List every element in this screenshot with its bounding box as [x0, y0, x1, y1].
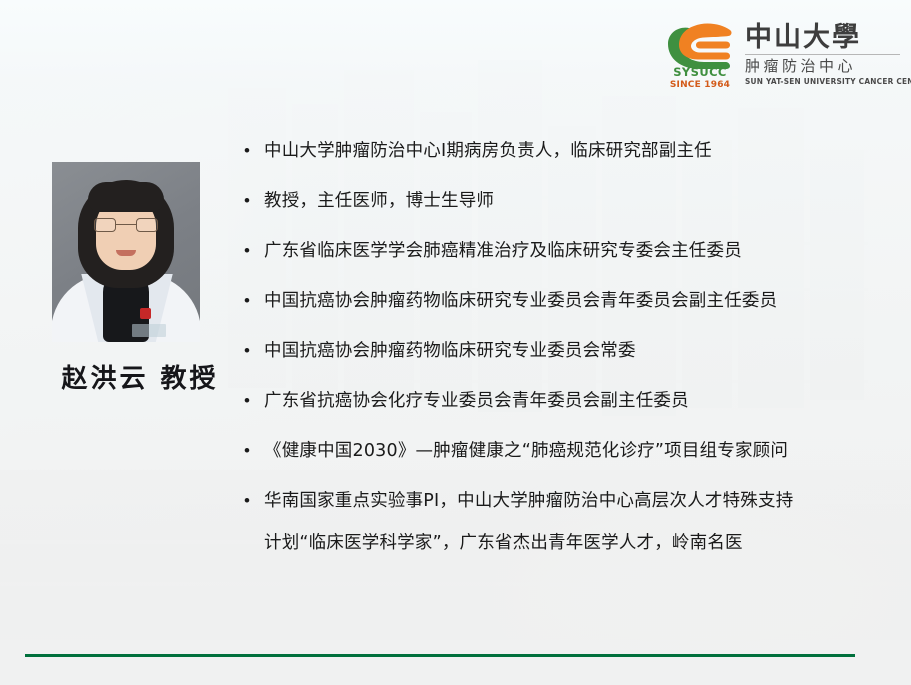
- list-item-label: 《健康中国2030》—肿瘤健康之“肺癌规范化诊疗”项目组专家顾问: [264, 436, 788, 466]
- logo-acronym: SYSUCC: [664, 66, 736, 78]
- footer-accent-rule: [25, 654, 855, 657]
- bullet-icon: •: [238, 386, 264, 416]
- speaker-name: 赵洪云 教授: [40, 358, 240, 395]
- list-item: • 广东省抗癌协会化疗专业委员会青年委员会副主任委员: [238, 386, 898, 416]
- slide-root: SYSUCC SINCE 1964 中山大學 肿瘤防治中心 SUN YAT-SE…: [0, 0, 911, 685]
- bullet-icon: •: [238, 336, 264, 366]
- list-item-label: 中国抗癌协会肿瘤药物临床研究专业委员会青年委员会副主任委员: [264, 286, 777, 316]
- list-item-label: 广东省临床医学学会肺癌精准治疗及临床研究专委会主任委员: [264, 236, 742, 266]
- logo-english-name: SUN YAT-SEN UNIVERSITY CANCER CENTER: [745, 77, 911, 86]
- speaker-photo: [52, 162, 200, 342]
- bullet-icon: •: [238, 186, 264, 216]
- list-item: • 《健康中国2030》—肿瘤健康之“肺癌规范化诊疗”项目组专家顾问: [238, 436, 898, 466]
- list-item-label: 中山大学肿瘤防治中心I期病房负责人，临床研究部副主任: [264, 136, 712, 166]
- list-item-label: 广东省抗癌协会化疗专业委员会青年委员会副主任委员: [264, 386, 689, 416]
- list-item-label: 中国抗癌协会肿瘤药物临床研究专业委员会常委: [264, 336, 636, 366]
- lapel-pin-icon: [140, 308, 151, 319]
- sysucc-logo: SYSUCC SINCE 1964 中山大學 肿瘤防治中心 SUN YAT-SE…: [664, 22, 900, 98]
- credentials-list: • 中山大学肿瘤防治中心I期病房负责人，临床研究部副主任 • 教授，主任医师，博…: [238, 136, 898, 578]
- list-item-label: 华南国家重点实验事PI，中山大学肿瘤防治中心高层次人才特殊支持: [264, 486, 793, 516]
- logo-university-name: 中山大學: [745, 23, 911, 52]
- bullet-icon: •: [238, 236, 264, 266]
- coat-badge: [132, 324, 166, 337]
- logo-wordmark: 中山大學 肿瘤防治中心 SUN YAT-SEN UNIVERSITY CANCE…: [745, 22, 911, 86]
- list-item-label-continued: 计划“临床医学科学家”，广东省杰出青年医学人才，岭南名医: [264, 528, 793, 558]
- list-item: • 中国抗癌协会肿瘤药物临床研究专业委员会常委: [238, 336, 898, 366]
- logo-center-name: 肿瘤防治中心: [745, 58, 911, 75]
- list-item: • 教授，主任医师，博士生导师: [238, 186, 898, 216]
- bullet-icon: •: [238, 486, 264, 516]
- list-item: • 中国抗癌协会肿瘤药物临床研究专业委员会青年委员会副主任委员: [238, 286, 898, 316]
- bullet-icon: •: [238, 286, 264, 316]
- logo-since-year: SINCE 1964: [664, 80, 736, 90]
- list-item: • 中山大学肿瘤防治中心I期病房负责人，临床研究部副主任: [238, 136, 898, 166]
- bullet-icon: •: [238, 436, 264, 466]
- list-item: • 广东省临床医学学会肺癌精准治疗及临床研究专委会主任委员: [238, 236, 898, 266]
- list-item-label: 教授，主任医师，博士生导师: [264, 186, 494, 216]
- list-item: • 华南国家重点实验事PI，中山大学肿瘤防治中心高层次人才特殊支持 计划“临床医…: [238, 486, 898, 558]
- portrait-image: [52, 162, 200, 342]
- bullet-icon: •: [238, 136, 264, 166]
- sysucc-flame-icon: SYSUCC SINCE 1964: [664, 22, 736, 94]
- logo-divider: [745, 54, 900, 55]
